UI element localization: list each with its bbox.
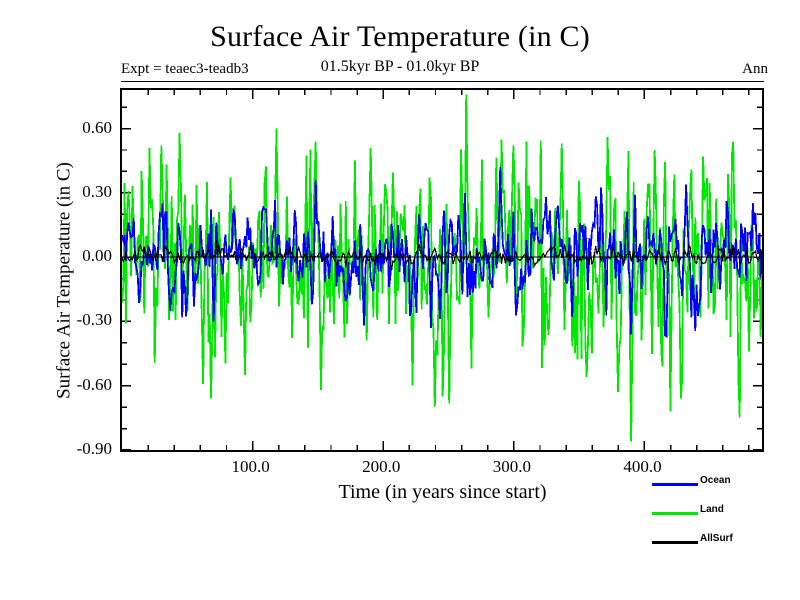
period-label: Ann (742, 61, 768, 78)
legend-item-land[interactable]: Land (652, 507, 792, 536)
legend-swatch-icon (652, 512, 698, 515)
y-tick-label: 0.30 (52, 183, 112, 200)
legend-item-allsurf[interactable]: AllSurf (652, 536, 792, 565)
experiment-label: Expt = teaec3-teadb3 (121, 61, 249, 78)
x-tick-label: 200.0 (336, 458, 426, 475)
y-tick-label: -0.60 (52, 376, 112, 393)
legend-swatch-icon (652, 483, 698, 486)
legend-item-ocean[interactable]: Ocean (652, 478, 792, 507)
y-tick-label: 0.00 (52, 247, 112, 264)
x-tick-label: 300.0 (467, 458, 557, 475)
header-divider (121, 81, 764, 82)
chart-subtitle: 01.5kyr BP - 01.0kyr BP (0, 58, 800, 76)
x-tick-label: 400.0 (597, 458, 687, 475)
legend-label: Ocean (700, 475, 731, 487)
y-tick-label: -0.90 (52, 440, 112, 457)
y-tick-label: -0.30 (52, 311, 112, 328)
legend-label: AllSurf (700, 533, 733, 545)
x-axis-tick-labels: 100.0200.0300.0400.0 (120, 458, 764, 480)
x-tick-label: 100.0 (206, 458, 296, 475)
chart-page: Surface Air Temperature (in C) 01.5kyr B… (0, 0, 800, 600)
y-axis-tick-labels: 0.600.300.00-0.30-0.60-0.90 (44, 88, 112, 452)
chart-legend: OceanLandAllSurf (652, 478, 792, 565)
legend-swatch-icon (652, 541, 698, 544)
y-tick-label: 0.60 (52, 119, 112, 136)
plot-canvas (122, 90, 762, 450)
page-title: Surface Air Temperature (in C) (0, 20, 800, 54)
plot-area (120, 88, 764, 452)
legend-label: Land (700, 504, 724, 516)
